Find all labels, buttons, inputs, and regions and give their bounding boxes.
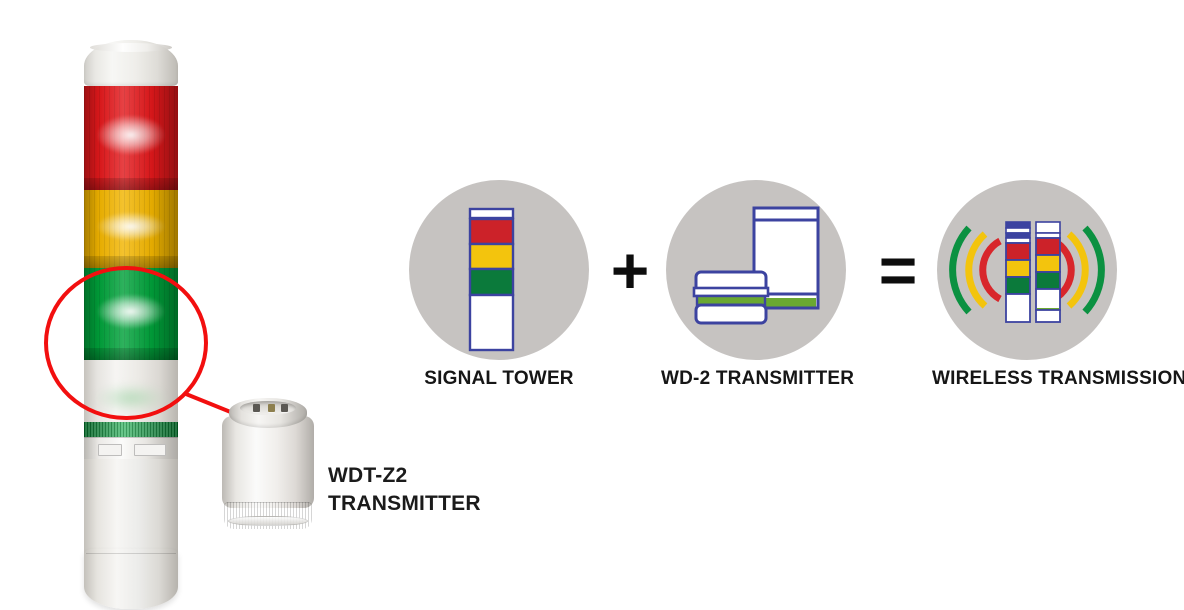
wdt-z2-label-line2: TRANSMITTER	[328, 490, 481, 518]
diagram-canvas: WDT-Z2 TRANSMITTER	[0, 0, 1184, 610]
equation-row: SIGNAL TOWER + WD-2 TRANSM	[404, 180, 1184, 400]
mini-tower-left	[1006, 222, 1030, 322]
equation-item-wireless-transmission: WIRELESS TRANSMISSION	[932, 180, 1122, 390]
lens-shading	[84, 86, 178, 190]
plus-operator: +	[600, 240, 660, 300]
signal-arcs-left	[953, 228, 1000, 312]
wireless-transmission-caption: WIRELESS TRANSMISSION	[932, 368, 1122, 390]
tower-indicator-ring	[84, 422, 178, 437]
signal-tower-icon	[409, 180, 589, 360]
connector-pin	[253, 404, 260, 412]
lens-seam	[84, 178, 178, 190]
tower-amber-lens	[84, 190, 178, 268]
wd-2-transmitter-icon	[666, 180, 846, 360]
tower-top-cap	[84, 40, 178, 86]
module-clear-base	[224, 502, 312, 529]
connector-pin	[268, 404, 275, 412]
tower-base-foot	[84, 549, 178, 609]
equation-item-signal-tower: SIGNAL TOWER	[404, 180, 594, 390]
tower-red-lens	[84, 86, 178, 190]
wireless-transmission-icon	[937, 180, 1117, 360]
mini-tower-right	[1036, 222, 1060, 322]
wdt-z2-module-photo	[222, 398, 314, 534]
module-barrel	[222, 416, 314, 508]
signal-tower-caption: SIGNAL TOWER	[404, 368, 594, 390]
wd2-transmitter-icon-circle	[666, 180, 846, 360]
signal-tower-icon-circle	[409, 180, 589, 360]
red-callout-ellipse	[44, 266, 208, 420]
wdt-z2-label-line1: WDT-Z2	[328, 462, 481, 490]
wireless-transmission-icon-circle	[937, 180, 1117, 360]
wd2-transmitter-caption: WD-2 TRANSMITTER	[661, 368, 851, 390]
connector-pin	[281, 404, 288, 412]
tower-pole	[84, 459, 178, 555]
equation-item-wd2-transmitter: WD-2 TRANSMITTER	[661, 180, 851, 390]
base-slot	[134, 444, 166, 456]
base-slot	[98, 444, 122, 456]
module-connector-top	[229, 398, 307, 428]
signal-arcs-right	[1054, 228, 1101, 312]
equals-operator: =	[868, 240, 928, 300]
tower-clear-base-ring	[84, 437, 178, 460]
wdt-z2-label: WDT-Z2 TRANSMITTER	[328, 462, 481, 517]
